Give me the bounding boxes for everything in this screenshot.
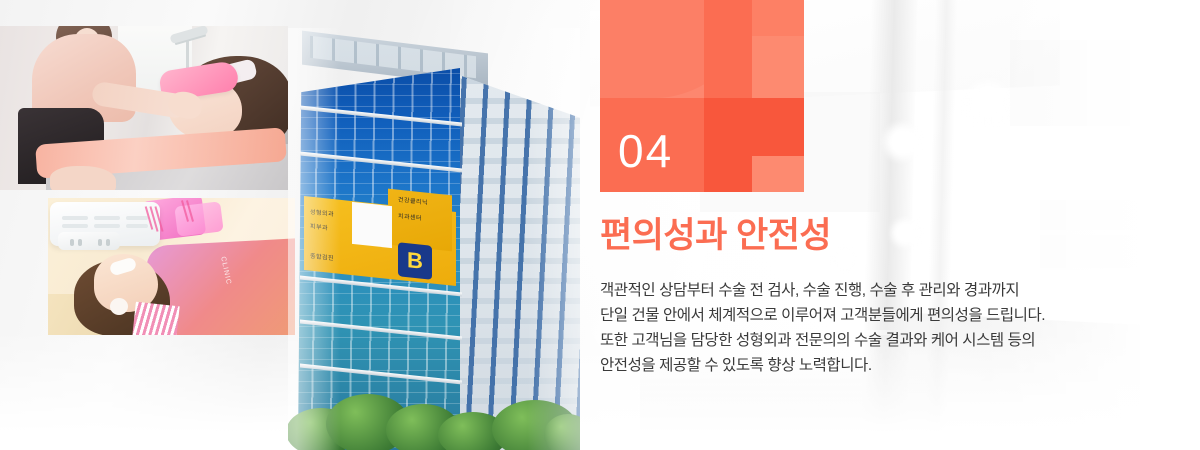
body-line: 안전성을 제공할 수 있도록 향상 노력합니다.: [600, 353, 1160, 378]
patient-hand: [50, 166, 116, 190]
page-title: 편의성과 안전성: [600, 214, 1160, 258]
badge-pattern-block: [752, 36, 804, 98]
led-indicator: [98, 239, 102, 246]
body-line: 단일 건물 안에서 체계적으로 이루어져 고객분들에게 편의성을 드립니다.: [600, 303, 1160, 328]
badge-pattern-block: [752, 156, 804, 192]
led-device-housing: [58, 232, 120, 250]
led-indicator: [106, 239, 110, 246]
ear-cover: [110, 298, 128, 315]
badge-pattern-column: [704, 98, 752, 192]
text-content: 편의성과 안전성 객관적인 상담부터 수술 전 검사, 수술 진행, 수술 후 …: [600, 214, 1160, 378]
badge-pattern-block: [752, 0, 804, 36]
led-device-bar: [94, 216, 120, 220]
led-device-bar: [126, 216, 148, 220]
led-device-bar: [62, 224, 88, 228]
led-therapy-photo: CLINIC: [48, 198, 295, 335]
led-indicator: [70, 239, 74, 246]
body-copy: 객관적인 상담부터 수술 전 검사, 수술 진행, 수술 후 관리와 경과까지 …: [600, 278, 1160, 378]
led-device-bar: [62, 216, 88, 220]
badge-pattern-block: [752, 98, 804, 156]
led-device-bar: [94, 224, 120, 228]
badge-number: 04: [618, 128, 673, 174]
promo-banner: CLINIC: [0, 0, 1200, 450]
background-ceiling-light: [880, 120, 924, 164]
body-line: 객관적인 상담부터 수술 전 검사, 수술 진행, 수술 후 관리와 경과까지: [600, 278, 1160, 303]
striped-collar: [132, 302, 179, 335]
section-number-badge: 04: [600, 0, 804, 192]
body-line: 또한 고객님을 담당한 성형외과 전문의의 수술 결과와 케어 시스템 등의: [600, 328, 1160, 353]
led-indicator: [78, 239, 82, 246]
photo-haze: [288, 28, 580, 450]
badge-pattern-block: [704, 0, 752, 98]
eye-mask-care-photo: [0, 26, 288, 190]
led-device-bar: [126, 224, 148, 228]
clinic-building-photo: 성형외과 피부과 종합검진 건강클리닉 치과센터 B: [288, 28, 580, 450]
